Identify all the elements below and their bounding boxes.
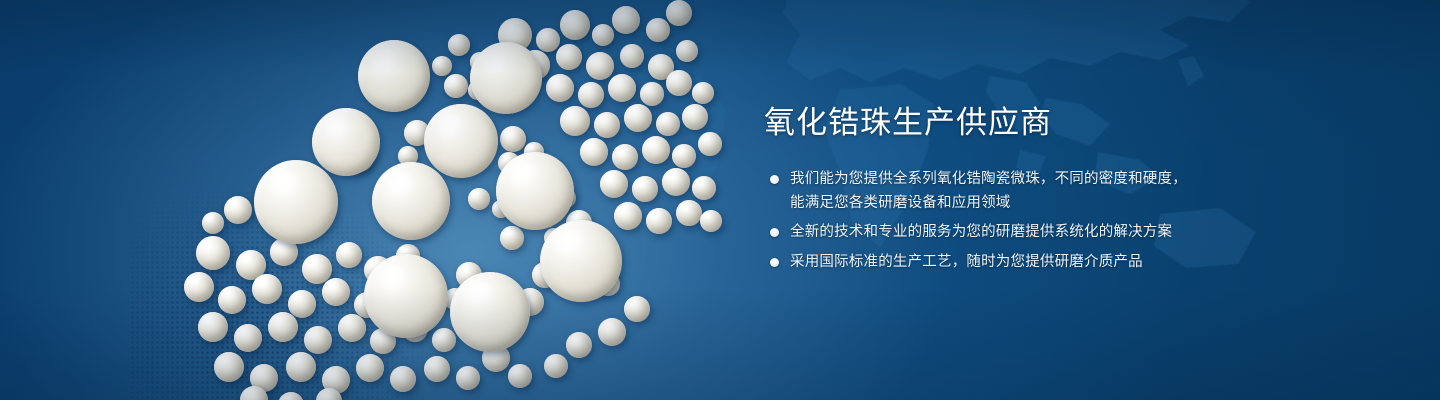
page-title: 氧化锆珠生产供应商 xyxy=(764,104,1382,142)
bullet-dot-icon xyxy=(770,228,779,237)
banner-copy: 氧化锆珠生产供应商 我们能为您提供全系列氧化锆陶瓷微珠，不同的密度和硬度， 能满… xyxy=(762,104,1382,274)
hero-banner: 氧化锆珠生产供应商 我们能为您提供全系列氧化锆陶瓷微珠，不同的密度和硬度， 能满… xyxy=(0,0,1440,400)
feature-list: 我们能为您提供全系列氧化锆陶瓷微珠，不同的密度和硬度， 能满足您各类研磨设备和应… xyxy=(762,168,1382,274)
bullet-dot-icon xyxy=(770,175,779,184)
list-item: 全新的技术和专业的服务为您的研磨提供系统化的解决方案 xyxy=(762,221,1382,245)
list-item-line: 采用国际标准的生产工艺，随时为您提供研磨介质产品 xyxy=(790,251,1382,275)
list-item-line: 能满足您各类研磨设备和应用领域 xyxy=(790,192,1382,216)
list-item: 采用国际标准的生产工艺，随时为您提供研磨介质产品 xyxy=(762,251,1382,275)
list-item-line: 全新的技术和专业的服务为您的研磨提供系统化的解决方案 xyxy=(790,221,1382,245)
list-item-line: 我们能为您提供全系列氧化锆陶瓷微珠，不同的密度和硬度， xyxy=(790,168,1382,192)
list-item: 我们能为您提供全系列氧化锆陶瓷微珠，不同的密度和硬度， 能满足您各类研磨设备和应… xyxy=(762,168,1382,215)
bullet-dot-icon xyxy=(770,258,779,267)
